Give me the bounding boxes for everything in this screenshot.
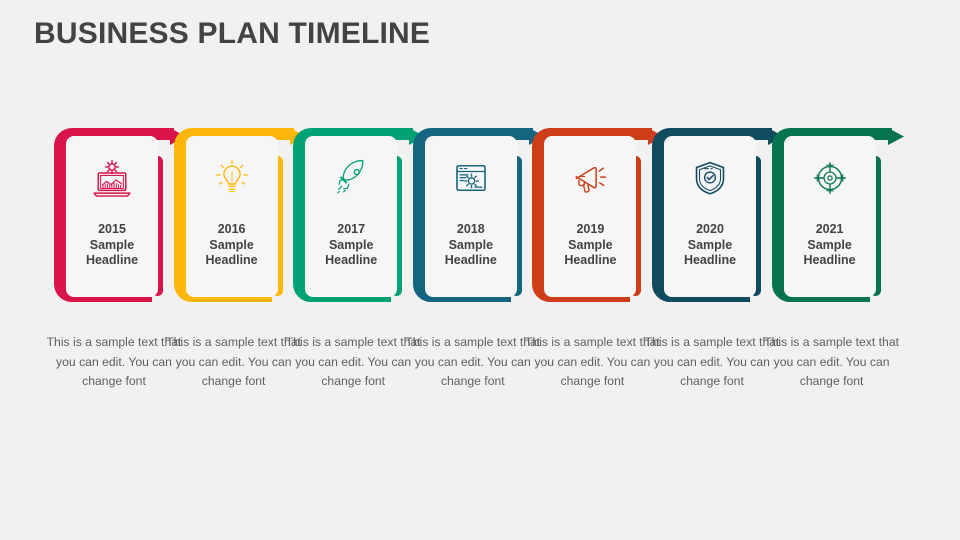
step-description: This is a sample text that you can edit.… bbox=[285, 333, 421, 392]
step-card[interactable]: 2019SampleHeadline bbox=[544, 136, 636, 297]
step-headline-line2: Headline bbox=[546, 253, 634, 269]
lightbulb-icon bbox=[186, 149, 278, 207]
step-card[interactable]: 2021SampleHeadline bbox=[784, 136, 876, 297]
timeline-step[interactable]: 2015SampleHeadlineThis is a sample text … bbox=[54, 120, 174, 420]
step-description: This is a sample text that you can edit.… bbox=[405, 333, 541, 392]
step-headline: 2015SampleHeadline bbox=[68, 222, 156, 269]
timeline-step[interactable]: 2016SampleHeadlineThis is a sample text … bbox=[174, 120, 294, 420]
step-year: 2016 bbox=[188, 222, 276, 238]
step-headline-line2: Headline bbox=[786, 253, 874, 269]
step-card[interactable]: 2016SampleHeadline bbox=[186, 136, 278, 297]
step-headline-line2: Headline bbox=[68, 253, 156, 269]
step-headline-line1: Sample bbox=[786, 238, 874, 254]
timeline-step[interactable]: 2021SampleHeadlineThis is a sample text … bbox=[772, 120, 892, 420]
step-headline-line1: Sample bbox=[427, 238, 515, 254]
step-description: This is a sample text that you can edit.… bbox=[524, 333, 660, 392]
timeline-step[interactable]: 2019SampleHeadlineThis is a sample text … bbox=[532, 120, 652, 420]
step-description: This is a sample text that you can edit.… bbox=[764, 333, 900, 392]
step-headline: 2020SampleHeadline bbox=[666, 222, 754, 269]
timeline-step[interactable]: 2020SampleHeadlineThis is a sample text … bbox=[652, 120, 772, 420]
step-year: 2015 bbox=[68, 222, 156, 238]
megaphone-icon bbox=[544, 149, 636, 207]
step-headline-line2: Headline bbox=[666, 253, 754, 269]
step-headline-line2: Headline bbox=[188, 253, 276, 269]
rocket-icon bbox=[305, 149, 397, 207]
step-description: This is a sample text that you can edit.… bbox=[644, 333, 780, 392]
step-card[interactable]: 2018SampleHeadline bbox=[425, 136, 517, 297]
step-card[interactable]: 2017SampleHeadline bbox=[305, 136, 397, 297]
slide-canvas: BUSINESS PLAN TIMELINE 2015SampleHeadlin… bbox=[0, 0, 960, 540]
step-year: 2020 bbox=[666, 222, 754, 238]
step-description: This is a sample text that you can edit.… bbox=[166, 333, 302, 392]
step-year: 2018 bbox=[427, 222, 515, 238]
step-headline-line1: Sample bbox=[666, 238, 754, 254]
step-headline-line2: Headline bbox=[427, 253, 515, 269]
timeline-step[interactable]: 2018SampleHeadlineThis is a sample text … bbox=[413, 120, 533, 420]
step-headline-line1: Sample bbox=[188, 238, 276, 254]
step-year: 2021 bbox=[786, 222, 874, 238]
step-headline: 2019SampleHeadline bbox=[546, 222, 634, 269]
step-headline: 2016SampleHeadline bbox=[188, 222, 276, 269]
step-card[interactable]: 2015SampleHeadline bbox=[66, 136, 158, 297]
step-headline-line2: Headline bbox=[307, 253, 395, 269]
step-card[interactable]: 2020SampleHeadline bbox=[664, 136, 756, 297]
step-year: 2019 bbox=[546, 222, 634, 238]
browser-settings-icon bbox=[425, 149, 517, 207]
timeline-steps-container: 2015SampleHeadlineThis is a sample text … bbox=[0, 120, 960, 420]
step-headline: 2021SampleHeadline bbox=[786, 222, 874, 269]
step-year: 2017 bbox=[307, 222, 395, 238]
page-title: BUSINESS PLAN TIMELINE bbox=[34, 17, 430, 51]
target-crosshair-icon bbox=[784, 149, 876, 207]
step-headline: 2017SampleHeadline bbox=[307, 222, 395, 269]
step-headline: 2018SampleHeadline bbox=[427, 222, 515, 269]
laptop-analytics-icon bbox=[66, 149, 158, 207]
shield-check-icon bbox=[664, 149, 756, 207]
step-headline-line1: Sample bbox=[546, 238, 634, 254]
step-headline-line1: Sample bbox=[68, 238, 156, 254]
step-description: This is a sample text that you can edit.… bbox=[46, 333, 182, 392]
step-headline-line1: Sample bbox=[307, 238, 395, 254]
timeline-step[interactable]: 2017SampleHeadlineThis is a sample text … bbox=[293, 120, 413, 420]
